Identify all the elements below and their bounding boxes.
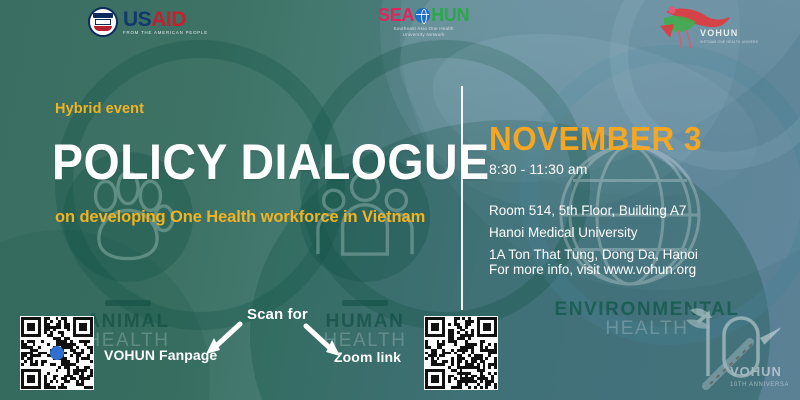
- seaohun-word-sea: SEA: [378, 6, 414, 24]
- event-banner: ANIMAL HEALTH HUMAN HEALTH ENVIRONMENTAL…: [0, 0, 800, 400]
- pillar-divider: [342, 300, 388, 306]
- partner-logo-bar: USAID FROM THE AMERICAN PEOPLE SEA HUN S…: [0, 0, 800, 52]
- anniversary-label: 10TH ANNIVERSARY: [730, 382, 788, 388]
- qr-center-dot: [50, 346, 64, 360]
- event-date: NOVEMBER 3: [489, 120, 702, 158]
- anniversary-org: VOHUN: [730, 364, 782, 379]
- vohun-subtext: VIETNAM ONE HEALTH UNIVERSITY NETWORK: [700, 40, 758, 44]
- seaohun-globe-icon: [415, 8, 430, 23]
- vohun-10th-anniversary-mark: VOHUN 10TH ANNIVERSARY: [668, 294, 788, 394]
- qr-code-vohun-fanpage[interactable]: [20, 316, 94, 390]
- vohun-wordmark: VOHUN: [700, 28, 739, 38]
- qr-code-zoom-link[interactable]: [424, 316, 498, 390]
- vertical-divider: [461, 86, 463, 310]
- seaohun-logo: SEA HUN Southeast Asia One Health Univer…: [378, 6, 469, 38]
- seaohun-tagline-line2: University Network: [378, 32, 469, 38]
- venue-line-1: Room 514, 5th Floor, Building A7: [489, 200, 698, 222]
- seaohun-wordmark: SEA HUN: [378, 6, 469, 24]
- usaid-seal-icon: [88, 7, 118, 37]
- usaid-word-aid: AID: [151, 8, 186, 31]
- usaid-logo: USAID FROM THE AMERICAN PEOPLE: [88, 7, 208, 37]
- venue-line-2: Hanoi Medical University: [489, 222, 698, 244]
- event-time: 8:30 - 11:30 am: [489, 161, 588, 177]
- pillar-divider: [105, 300, 151, 306]
- more-info-text: For more info, visit www.vohun.org: [489, 262, 696, 277]
- usaid-tagline: FROM THE AMERICAN PEOPLE: [123, 31, 208, 35]
- seaohun-tagline: Southeast Asia One Health University Net…: [378, 26, 469, 38]
- usaid-word-us: US: [123, 8, 151, 31]
- seaohun-word-hun: HUN: [431, 6, 469, 24]
- scan-prompt-label: Scan for: [247, 306, 308, 323]
- qr-label-zoom-link: Zoom link: [334, 349, 401, 365]
- event-venue: Room 514, 5th Floor, Building A7 Hanoi M…: [489, 200, 698, 266]
- event-format-kicker: Hybrid event: [55, 101, 144, 117]
- page-subtitle: on developing One Health workforce in Vi…: [55, 208, 425, 227]
- vohun-logo: VOHUN VIETNAM ONE HEALTH UNIVERSITY NETW…: [648, 4, 758, 50]
- qr-label-vohun-fanpage: VOHUN Fanpage: [104, 347, 217, 363]
- usaid-wordmark: USAID FROM THE AMERICAN PEOPLE: [123, 9, 208, 35]
- page-title: POLICY DIALOGUE: [52, 137, 490, 187]
